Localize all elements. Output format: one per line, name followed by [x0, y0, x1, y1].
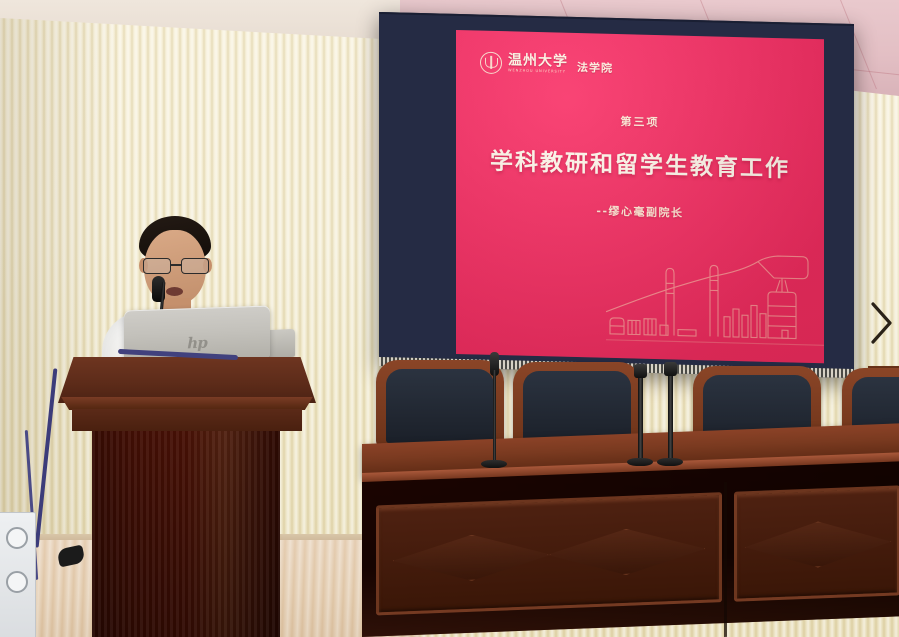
mic-base	[627, 458, 653, 466]
podium-body	[92, 431, 280, 637]
table-microphone-1	[479, 352, 509, 468]
eyeglasses-icon	[142, 258, 210, 272]
mic-rod	[668, 376, 673, 458]
mic-capsule	[634, 364, 647, 378]
presenter-mouth	[166, 287, 183, 296]
control-knob[interactable]	[6, 571, 28, 593]
lens	[143, 258, 171, 274]
mic-base	[481, 460, 507, 468]
floor-av-controller[interactable]	[0, 512, 36, 637]
table-microphone-3	[655, 362, 685, 466]
mic-capsule	[664, 362, 677, 376]
mic-base	[657, 458, 683, 466]
table-microphone-2	[625, 364, 655, 466]
lens	[181, 258, 209, 274]
mic-rod	[493, 370, 496, 460]
control-knob[interactable]	[6, 527, 28, 549]
hp-logo-icon: hp	[187, 334, 206, 353]
podium	[58, 357, 316, 637]
presenter-area: hp	[0, 0, 899, 637]
cable	[35, 368, 58, 547]
photo-scene: 温州大学 WENZHOU UNIVERSITY 法学院 第三项 学科教研和留学生…	[0, 0, 899, 637]
podium-top	[58, 357, 316, 403]
mic-rod	[638, 378, 643, 458]
podium-mid	[72, 409, 302, 431]
